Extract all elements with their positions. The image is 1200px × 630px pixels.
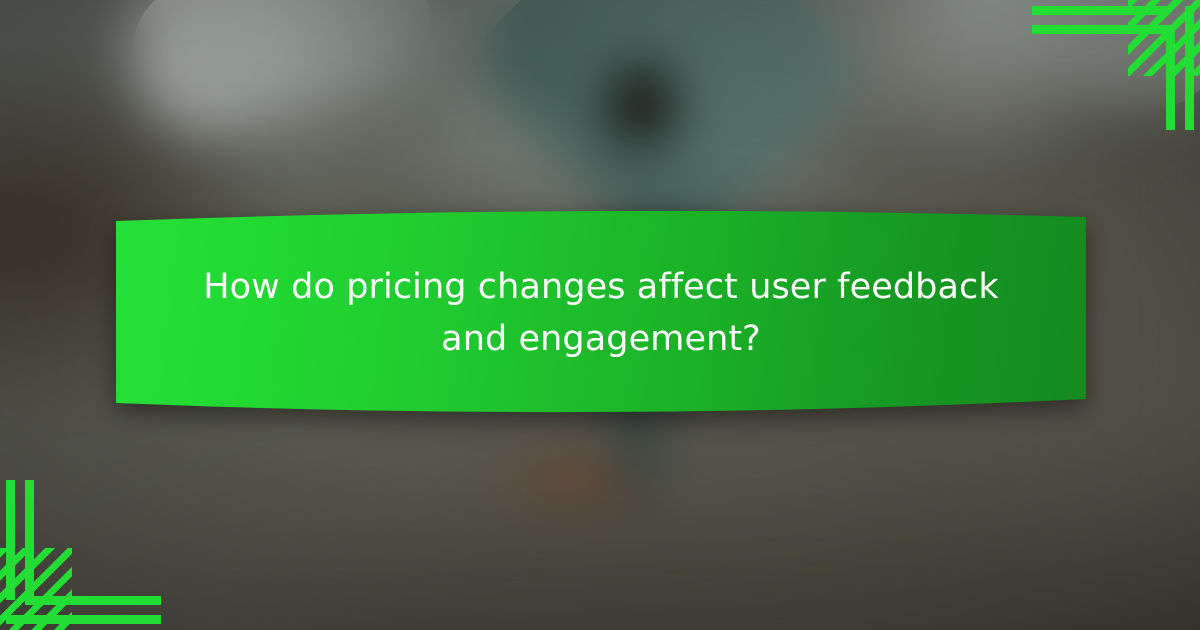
headline-text-block: How do pricing changes affect user feedb… (103, 203, 1099, 423)
corner-hatch-pattern-icon (1128, 0, 1200, 76)
headline-line-1: How do pricing changes affect user feedb… (203, 265, 999, 310)
headline-line-2: and engagement? (441, 317, 761, 362)
banner-canvas: How do pricing changes affect user feedb… (0, 0, 1200, 630)
corner-bracket-top-right (1032, 0, 1200, 130)
corner-hatch-pattern-icon (0, 548, 72, 630)
corner-bracket-bottom-left (0, 480, 170, 630)
headline-banner: How do pricing changes affect user feedb… (103, 203, 1099, 423)
